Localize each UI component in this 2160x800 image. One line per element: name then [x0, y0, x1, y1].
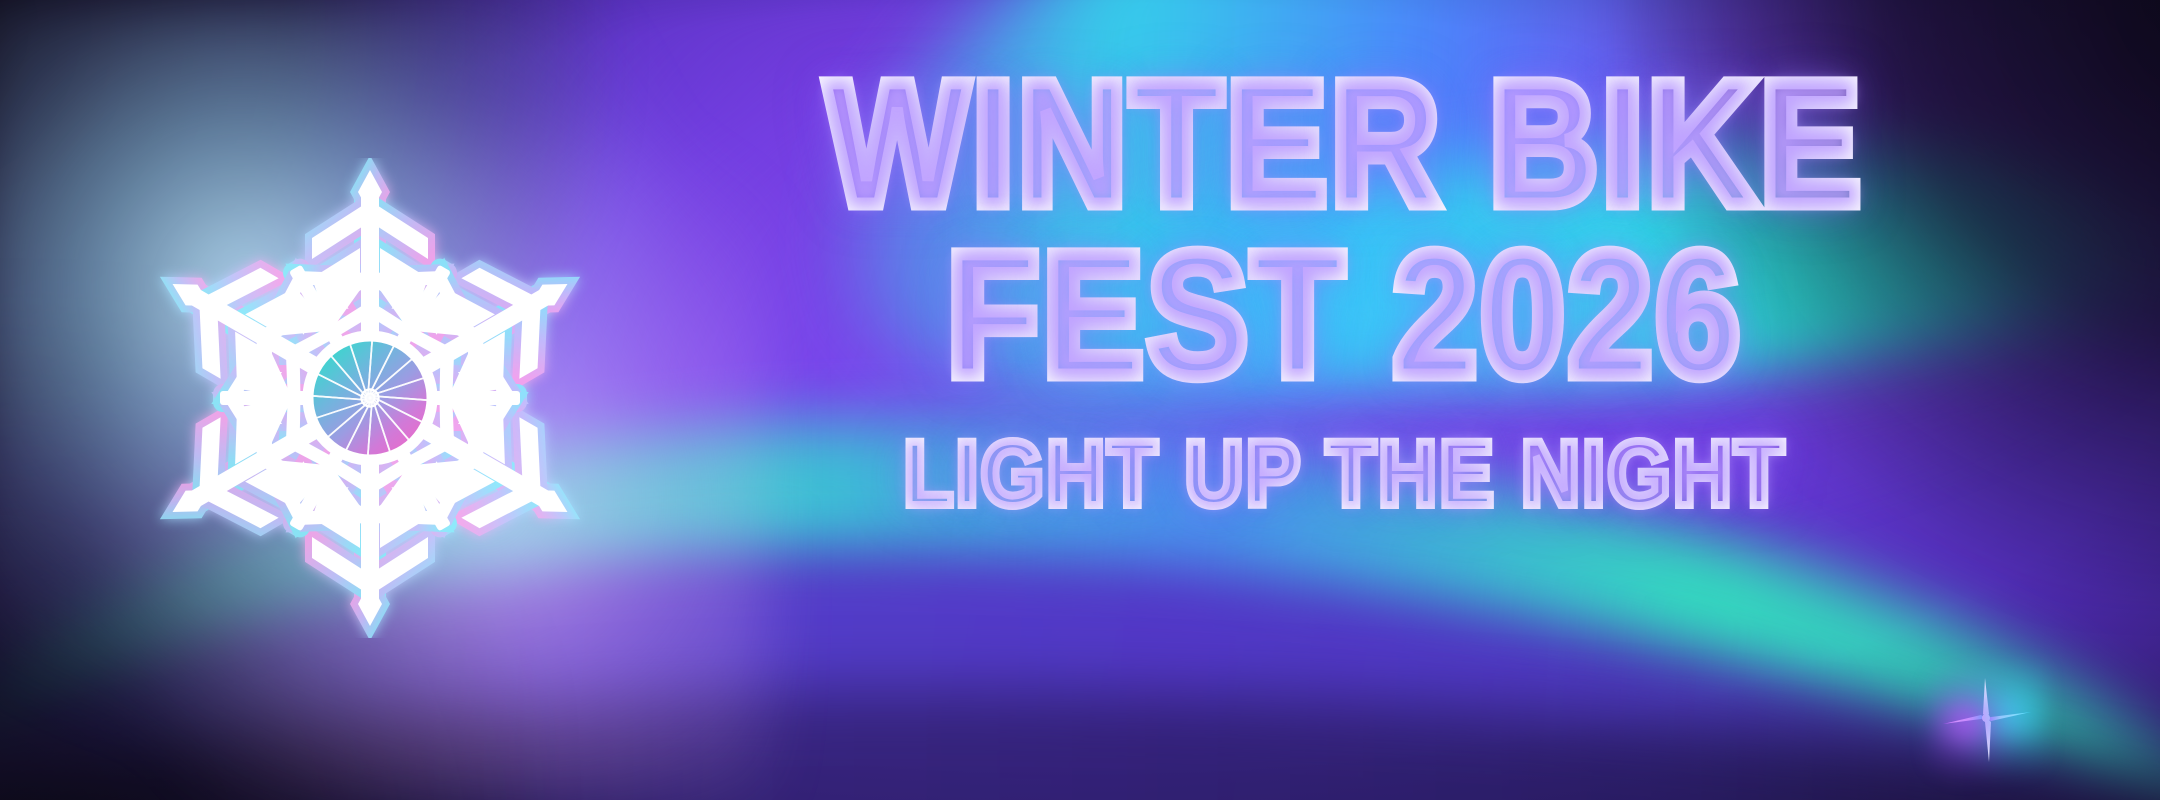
subtitle-line: LIGHT UP THE NIGHT: [610, 422, 2080, 526]
page-title-secondary: FEST 2026: [713, 234, 1977, 396]
sparkle-glow: [1927, 662, 2047, 782]
four-point-sparkle: [1927, 662, 2047, 782]
title-line-2: FEST 2026: [610, 234, 2080, 396]
banner-text-block: WINTER BIKE FEST 2026 LIGHT UP THE NIGHT: [610, 64, 2080, 526]
winter-bike-fest-banner: WINTER BIKE FEST 2026 LIGHT UP THE NIGHT: [0, 0, 2160, 800]
snowflake-bike-wheel-logo: [130, 158, 610, 638]
bike-wheel-icon: [306, 334, 434, 462]
title-line-1: WINTER BIKE: [610, 64, 2080, 224]
snowflake-icon: [130, 158, 610, 638]
page-title-primary: WINTER BIKE: [713, 64, 1977, 224]
wheel-hub-center: [368, 396, 371, 399]
page-subtitle: LIGHT UP THE NIGHT: [698, 422, 1992, 526]
